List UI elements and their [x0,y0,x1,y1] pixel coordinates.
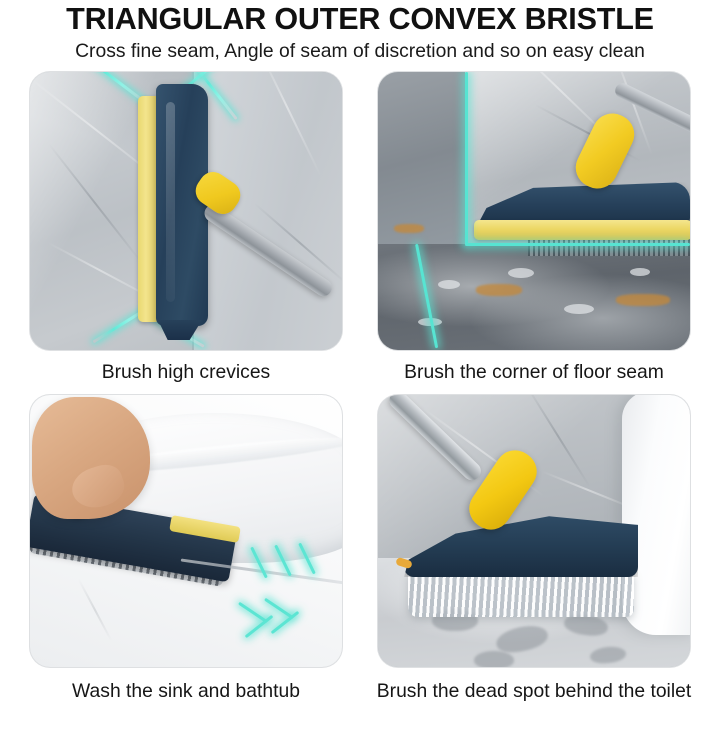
product-photo-toilet [378,395,690,667]
panel-wash-sink-bathtub: Wash the sink and bathtub [16,395,356,704]
page-subtitle: Cross fine seam, Angle of seam of discre… [4,38,717,64]
cyan-corner-line-horizontal [465,243,690,246]
brush-bristles [408,573,634,617]
floor-stain [616,294,670,306]
side-wall-surface [378,72,465,244]
panel-caption: Brush the corner of floor seam [371,360,698,385]
panel-caption: Brush the dead spot behind the toilet [371,679,698,704]
brush-bristles [528,238,690,256]
infographic-header: TRIANGULAR OUTER CONVEX BRISTLE Cross fi… [0,0,720,64]
panel-caption: Wash the sink and bathtub [23,679,350,704]
floor-stain [394,224,424,233]
panel-row-top: Brush high crevices [0,72,720,385]
floor-smudge [474,651,514,667]
panel-brush-high-crevices: Brush high crevices [16,72,356,385]
panel-brush-dead-spot-toilet: Brush the dead spot behind the toilet [364,395,704,704]
panel-caption: Brush high crevices [23,360,350,385]
floor-speck [564,304,594,314]
product-photo-high-crevices [30,72,342,350]
panel-row-bottom: Wash the sink and bathtub [0,395,720,704]
cyan-corner-line-vertical [465,72,468,244]
feature-panel-grid: Brush high crevices [0,72,720,704]
squeegee-blade [474,220,690,240]
brush-body [156,84,208,326]
page-title: TRIANGULAR OUTER CONVEX BRISTLE [5,2,714,36]
floor-speck [630,268,650,276]
product-photo-sink [30,395,342,667]
panel-brush-corner-floor-seam: Brush the corner of floor seam [364,72,704,385]
floor-speck [508,268,534,278]
floor-speck [438,280,460,289]
floor-stain [476,284,522,296]
product-photo-corner-seam [378,72,690,350]
